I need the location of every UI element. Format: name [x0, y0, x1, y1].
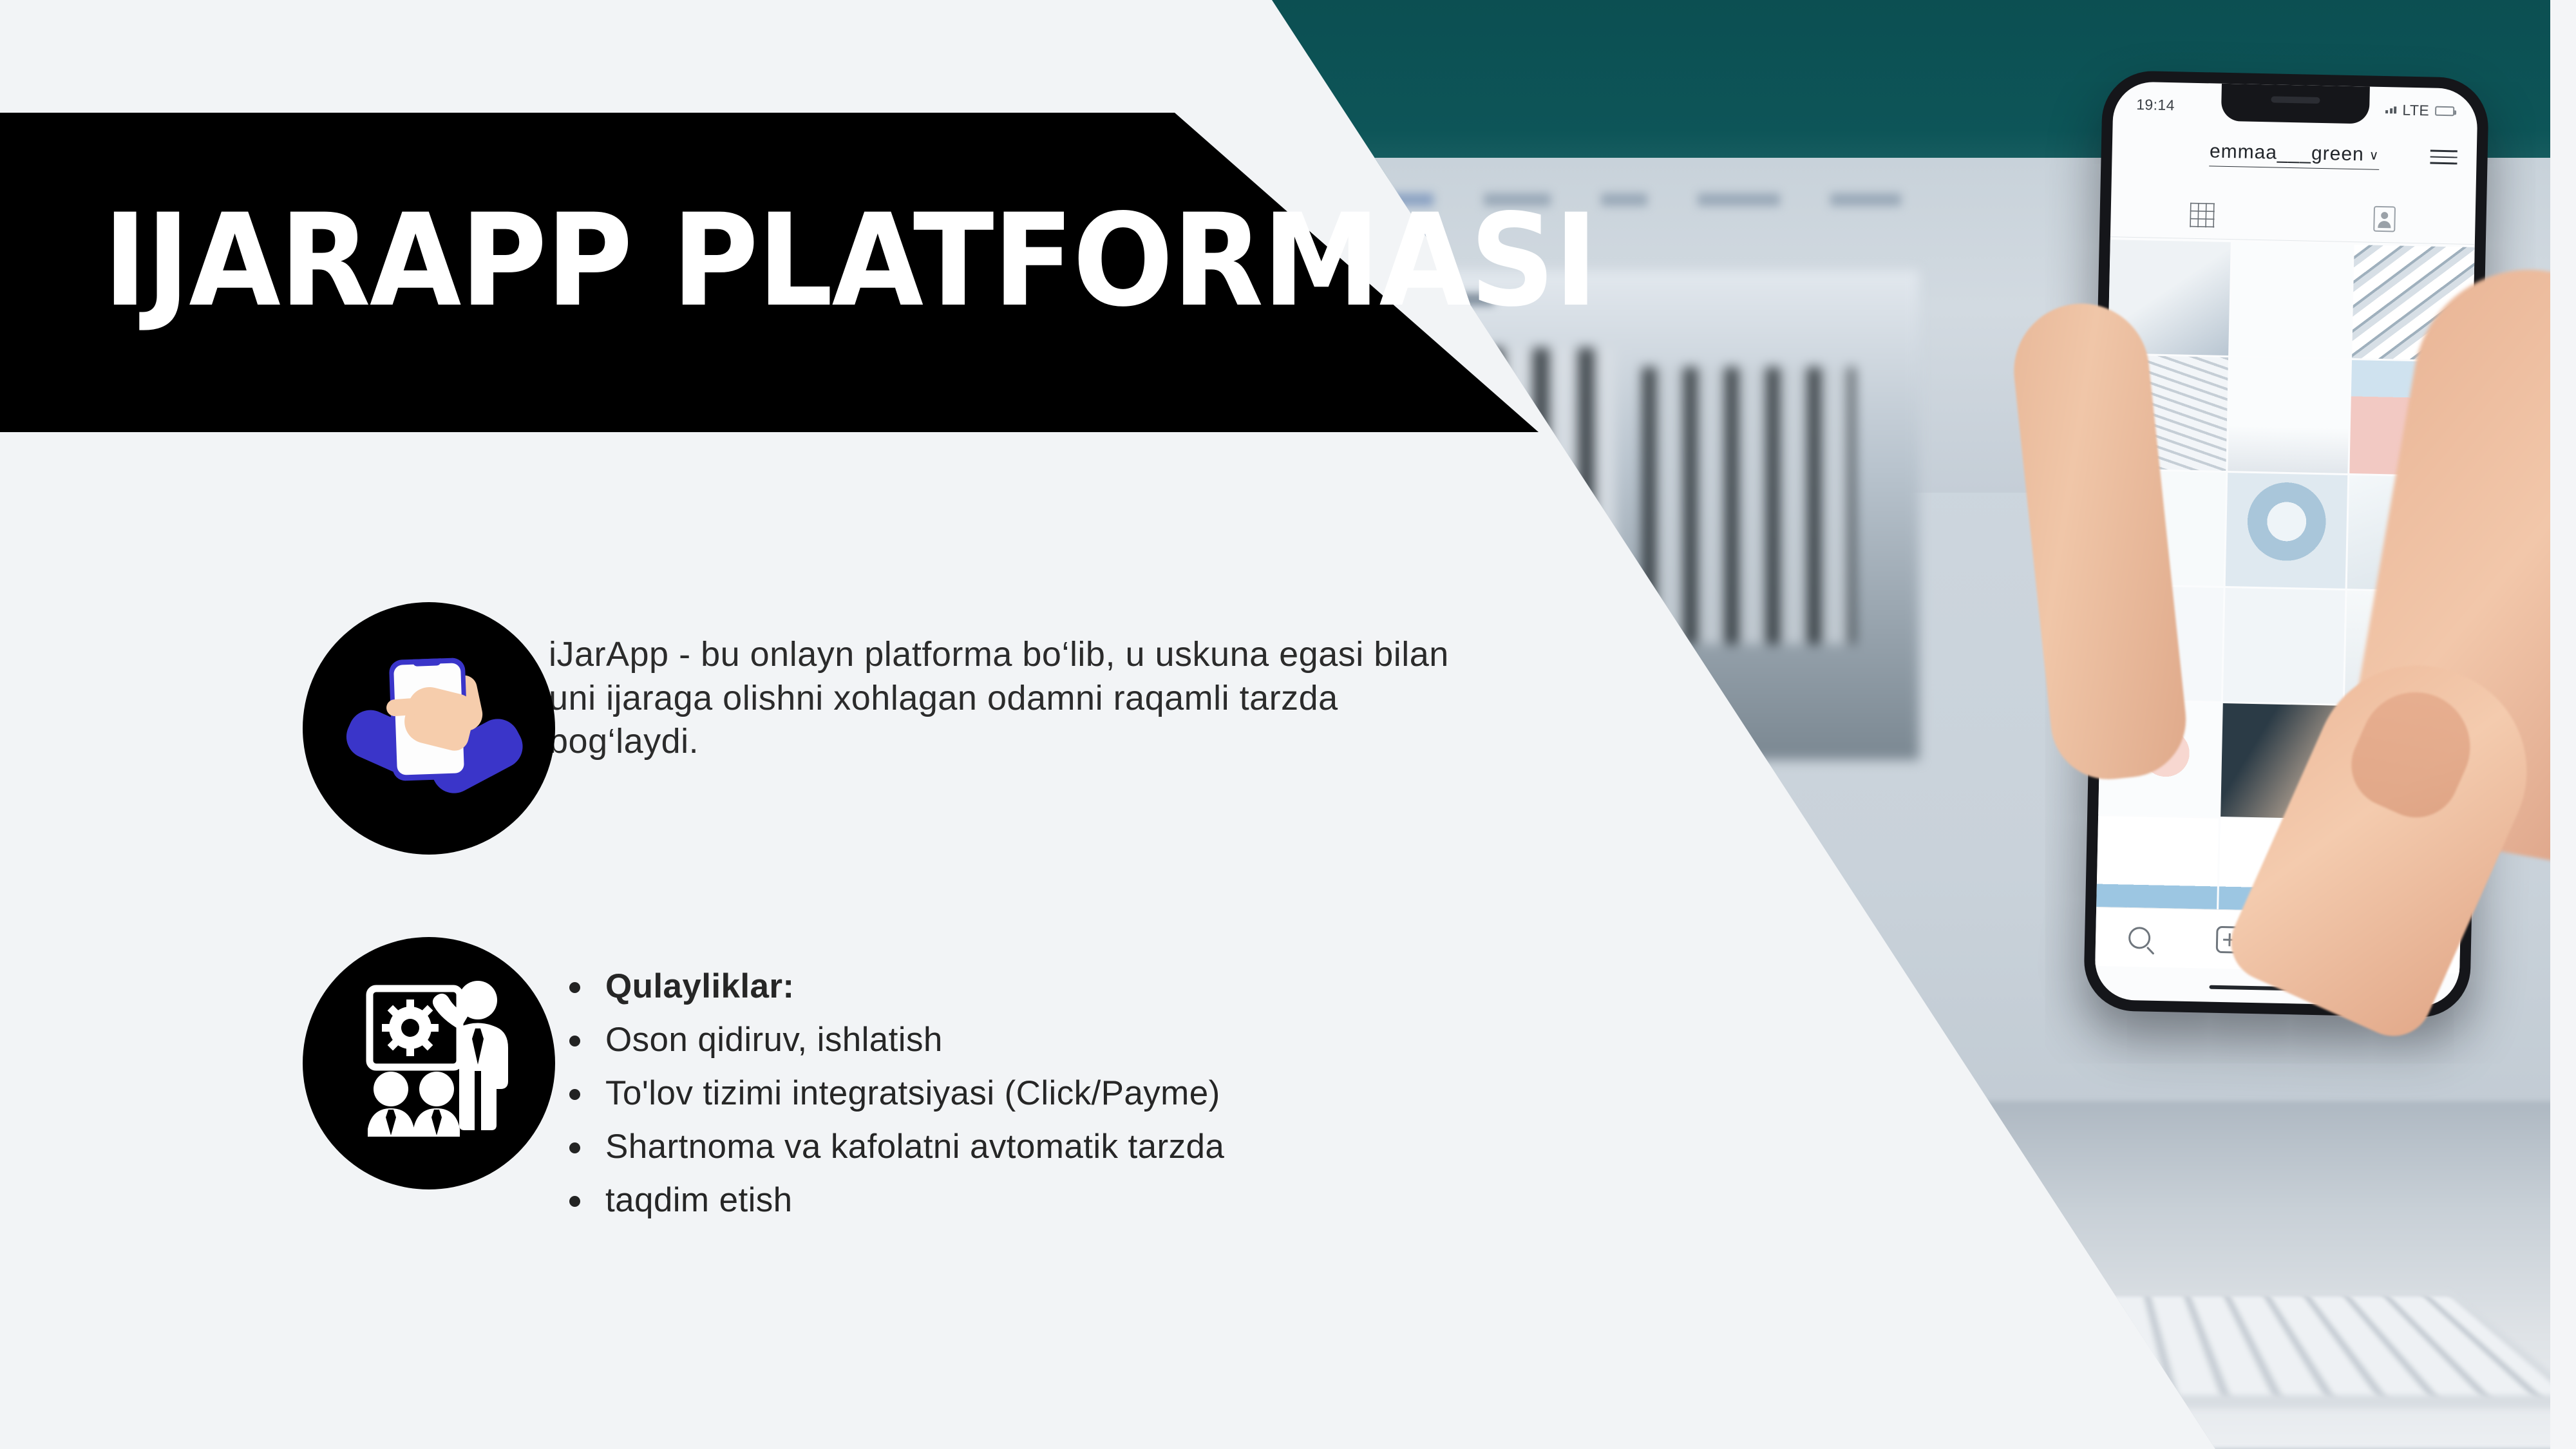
list-item: Oson qidiruv, ishlatish [549, 1023, 1224, 1057]
grid-icon [2190, 202, 2215, 227]
status-time: 19:14 [2136, 95, 2175, 113]
features-row: Qulayliklar:Oson qidiruv, ishlatishTo'lo… [303, 937, 1224, 1236]
tab-tagged[interactable] [2293, 204, 2476, 234]
profile-header: emmaa___green ∨ [2112, 126, 2477, 184]
list-item: To'lov tizimi integratsiyasi (Click/Paym… [549, 1076, 1224, 1110]
right-margin [2550, 0, 2576, 1449]
grid-cell[interactable] [2225, 473, 2347, 589]
phone-status-bar: 19:14 LTE [2113, 90, 2478, 125]
hands-holding-phone-icon [303, 602, 555, 855]
list-item: Shartnoma va kafolatni avtomatik tarzda [549, 1130, 1224, 1164]
training-presentation-icon [303, 937, 555, 1189]
intro-paragraph: iJarApp - bu onlayn platforma bo‘lib, u … [549, 602, 1489, 764]
intro-row: iJarApp - bu onlayn platforma bo‘lib, u … [303, 602, 1489, 855]
profile-tabs [2110, 189, 2476, 245]
battery-icon [2435, 106, 2454, 116]
status-network: LTE [2402, 101, 2429, 119]
chevron-down-icon: ∨ [2369, 147, 2380, 163]
profile-handle[interactable]: emmaa___green ∨ [2210, 140, 2380, 170]
features-list: Qulayliklar:Oson qidiruv, ishlatishTo'lo… [549, 937, 1224, 1217]
index-finger [386, 697, 423, 717]
list-item: taqdim etish [549, 1183, 1224, 1217]
hamburger-menu-icon[interactable] [2430, 150, 2457, 164]
signal-icon [2385, 106, 2396, 113]
list-item: Qulayliklar: [549, 969, 1224, 1003]
grid-cell[interactable] [2223, 588, 2345, 704]
keyboard [1527, 1289, 2576, 1408]
page-title: IJARAPP PLATFORMASI [103, 197, 1597, 325]
tab-grid[interactable] [2110, 201, 2293, 229]
grid-cell[interactable] [2230, 242, 2353, 358]
search-icon[interactable] [2128, 927, 2151, 949]
grid-cell[interactable] [2228, 357, 2350, 473]
tagged-icon [2373, 205, 2396, 232]
